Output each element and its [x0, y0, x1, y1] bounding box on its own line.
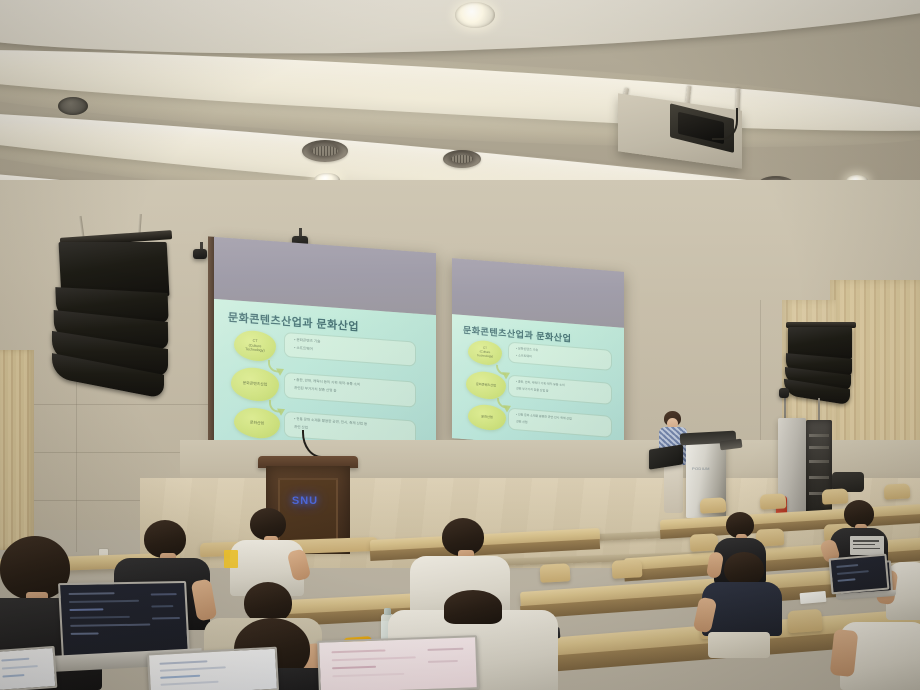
student-head [724, 552, 764, 586]
laptop-screen[interactable] [58, 581, 190, 659]
projection-screen-secondary: 문화콘텐츠산업과 문화산업 CT (Culture Technology) • … [452, 258, 624, 452]
laptop-screen[interactable] [147, 647, 279, 690]
slide-bubble-line: • 소프트웨어 [294, 346, 313, 352]
laptop-screen[interactable] [317, 635, 479, 690]
slide-bubble-line: 관련된 부가가치 창출 산업 등 [294, 386, 337, 394]
slide-bubble-1: • 문화콘텐츠 기술 • 소프트웨어 [284, 332, 416, 367]
ceiling-downlight [455, 2, 495, 28]
line-array-speaker-right [786, 322, 860, 428]
chair[interactable] [760, 493, 787, 509]
tshirt-graphic [850, 536, 884, 555]
ceiling-air-vent [443, 150, 481, 168]
ceiling-downlight [58, 97, 88, 115]
laptop[interactable] [0, 646, 57, 690]
laptop-screen[interactable] [829, 554, 890, 595]
slide-blob-culture-industry: 문화산업 [468, 403, 506, 431]
slide-bubble-line: • 소프트웨어 [516, 353, 532, 358]
lectern-logo: SNU [286, 494, 324, 508]
ceiling-projector-lift [618, 88, 756, 166]
slide-bubble-line: • 문화콘텐츠 기술 [294, 338, 320, 345]
slide-secondary: 문화콘텐츠산업과 문화산업 CT (Culture Technology) • … [452, 314, 624, 452]
projection-screen-main: 문화콘텐츠산업과 문화산업 CT (Culture Technology) • … [214, 237, 436, 465]
laptop[interactable] [317, 635, 479, 690]
chair[interactable] [787, 609, 822, 633]
laptop[interactable] [58, 581, 190, 659]
slide-bubble-2: • 출판, 만화, 캐릭터 기획·제작·유통·소비 관련 부가가치 창출 산업 … [508, 375, 612, 405]
slide-bubble-3: • 전통 문화 소재를 활용한 공연·전시·축제 산업 관련 산업 [508, 408, 612, 438]
slide-blob-content-industry: 문화콘텐츠산업 [231, 366, 279, 403]
slide-blob-ct: CT (Culture Technology) [234, 329, 276, 362]
slide-bubble-line: • 문화콘텐츠 기술 [516, 346, 538, 352]
student-head [444, 590, 502, 624]
wood-slat-column-left [0, 350, 34, 550]
student-shorts [708, 632, 770, 658]
podium-side-tray[interactable] [720, 439, 743, 451]
slide-bubble-2: • 출판, 만화, 캐릭터 등의 기획·제작·유통·소비 관련된 부가가치 창출… [284, 372, 416, 408]
podium-brand-label: PODIUM [692, 466, 710, 471]
paper-sheet[interactable] [800, 591, 827, 604]
slide-bubble-line: 관련 부가가치 창출 산업 등 [516, 386, 548, 393]
line-array-speaker-left [58, 224, 180, 404]
chair[interactable] [884, 483, 911, 499]
laptop[interactable] [147, 647, 279, 690]
slide-bubble-line: 관련 산업 [516, 419, 527, 424]
mic-head [779, 388, 789, 398]
ceiling-camera [193, 249, 207, 259]
student [840, 612, 920, 690]
slide-bubble-1: • 문화콘텐츠 기술 • 소프트웨어 [508, 342, 612, 371]
slide-blob-content-industry: 문화콘텐츠산업 [466, 370, 506, 400]
tshirt-graphic [224, 550, 238, 568]
lecture-hall-photo: 문화콘텐츠산업과 문화산업 CT (Culture Technology) • … [0, 0, 920, 690]
student [700, 552, 784, 656]
ceiling-air-vent [302, 140, 348, 162]
laptop-screen[interactable] [0, 646, 57, 690]
laptop[interactable] [829, 554, 890, 595]
chair[interactable] [612, 559, 643, 579]
chair[interactable] [540, 563, 571, 583]
slide-blob-ct: CT (Culture Technology) [468, 339, 502, 366]
